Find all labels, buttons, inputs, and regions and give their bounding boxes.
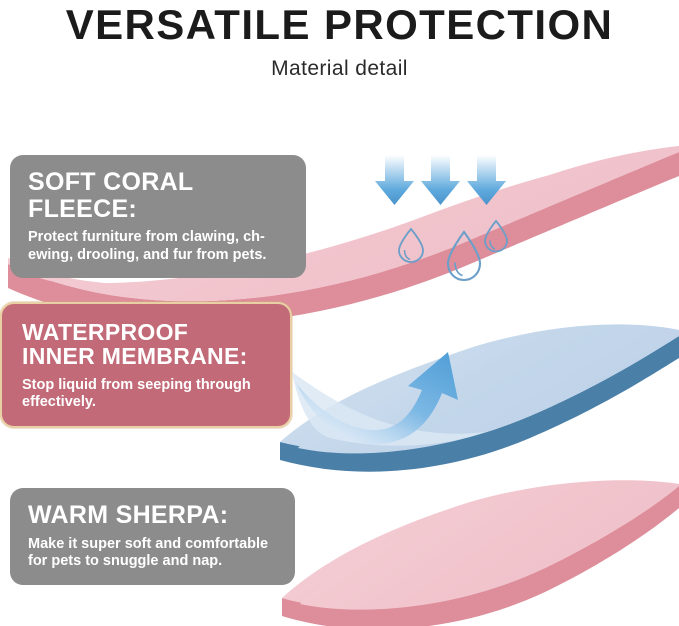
feature-body-line: Stop liquid from seeping through xyxy=(22,377,274,395)
feature-body-line: effectively. xyxy=(22,394,274,412)
feature-title-line: INNER MEMBRANE: xyxy=(22,344,274,368)
infographic-canvas: VERSATILE PROTECTION Material detail xyxy=(0,0,679,626)
feature-title-soft-coral-fleece: SOFT CORAL FLEECE: xyxy=(28,169,290,222)
sherpa-fabric-illustration xyxy=(282,480,679,626)
feature-body-line: Protect furniture from clawing, ch- xyxy=(28,229,290,247)
feature-body-line: Make it super soft and comfortable xyxy=(28,536,279,554)
feature-body-line: for pets to snuggle and nap. xyxy=(28,553,279,571)
feature-body-warm-sherpa: Make it super soft and comfortable for p… xyxy=(28,536,279,571)
feature-box-waterproof-inner-membrane[interactable]: WATERPROOF INNER MEMBRANE: Stop liquid f… xyxy=(0,302,292,428)
feature-body-waterproof-inner-membrane: Stop liquid from seeping through effecti… xyxy=(22,377,274,412)
water-arrow-down-2 xyxy=(421,155,460,205)
feature-title-line: WATERPROOF xyxy=(22,320,274,344)
feature-title-warm-sherpa: WARM SHERPA: xyxy=(28,502,279,529)
feature-box-warm-sherpa[interactable]: WARM SHERPA: Make it super soft and comf… xyxy=(10,488,295,585)
feature-title-waterproof-inner-membrane: WATERPROOF INNER MEMBRANE: xyxy=(22,320,274,369)
feature-box-soft-coral-fleece[interactable]: SOFT CORAL FLEECE: Protect furniture fro… xyxy=(10,155,306,278)
feature-body-soft-coral-fleece: Protect furniture from clawing, ch- ewin… xyxy=(28,229,290,264)
water-arrow-down-1 xyxy=(375,155,414,205)
feature-body-line: ewing, drooling, and fur from pets. xyxy=(28,247,290,265)
membrane-illustration xyxy=(280,324,679,471)
